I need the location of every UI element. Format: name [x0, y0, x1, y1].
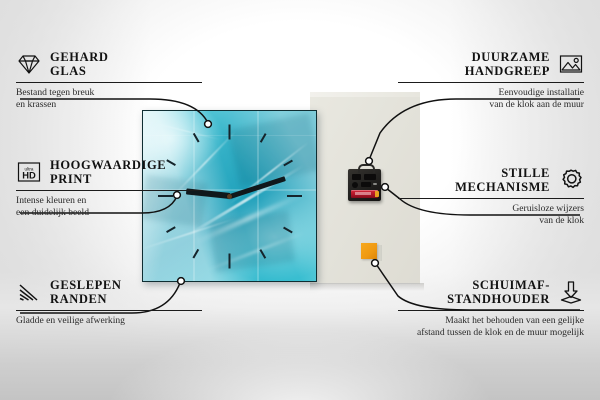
gear-icon — [558, 167, 584, 193]
feature-title-line1: DUURZAME — [465, 50, 550, 64]
foam-spacer-pad — [361, 243, 377, 259]
feature-title-line1: GESLEPEN — [50, 278, 122, 292]
feature-gehard-glas[interactable]: GEHARD GLAS Bestand tegen breuk en krass… — [16, 50, 202, 112]
feature-title-line1: GEHARD — [50, 50, 108, 64]
feature-header: DUURZAME HANDGREEP — [398, 50, 584, 79]
feature-subtitle: Geruisloze wijzers van de klok — [398, 203, 584, 228]
feature-header: GEHARD GLAS — [16, 50, 202, 79]
feature-stille-mechanisme[interactable]: STILLE MECHANISME Geruisloze wijzers van… — [398, 166, 584, 228]
feature-subtitle-line1: Gladde en veilige afwerking — [16, 315, 202, 328]
feature-divider — [398, 198, 584, 199]
mechanism-detail — [352, 182, 358, 188]
feature-title: GEHARD GLAS — [50, 50, 108, 79]
feature-title-line2: RANDEN — [50, 292, 122, 306]
feature-divider — [398, 310, 584, 311]
feature-title-line2: PRINT — [50, 172, 166, 186]
feature-header: ultra HD HOOGWAARDIGE PRINT — [16, 158, 202, 187]
mechanism-detail — [361, 182, 371, 187]
feature-subtitle-line1: Maakt het behouden van een gelijke — [398, 315, 584, 328]
mechanism-detail — [373, 183, 377, 185]
feature-subtitle-line2: en krassen — [16, 99, 202, 112]
feature-subtitle-line1: Bestand tegen breuk — [16, 87, 202, 100]
clock-tick — [287, 195, 302, 197]
feature-title: HOOGWAARDIGE PRINT — [50, 158, 166, 187]
feature-title: SCHUIMAF- STANDHOUDER — [447, 278, 550, 307]
feature-subtitle: Intense kleuren en een duidelijk beeld — [16, 195, 202, 220]
feature-hoogwaardige-print[interactable]: ultra HD HOOGWAARDIGE PRINT Intense kleu… — [16, 158, 202, 220]
feature-divider — [16, 190, 202, 191]
clock-tick — [229, 124, 231, 139]
clock-mechanism — [348, 169, 381, 201]
feature-subtitle: Gladde en veilige afwerking — [16, 315, 202, 328]
feature-schuimaf-standhouder[interactable]: SCHUIMAF- STANDHOUDER Maakt het behouden… — [398, 278, 584, 340]
ultra-hd-icon-main-text: HD — [22, 170, 36, 181]
feature-divider — [398, 82, 584, 83]
feature-title-line2: GLAS — [50, 64, 108, 78]
feature-subtitle-line2: afstand tussen de klok en de muur mogeli… — [398, 327, 584, 340]
feature-subtitle-line2: van de klok — [398, 215, 584, 228]
foam-spacer-side — [377, 245, 382, 261]
mechanism-detail — [364, 174, 376, 180]
feature-title: GESLEPEN RANDEN — [50, 278, 122, 307]
mechanism-hanger — [358, 164, 375, 173]
feature-subtitle-line1: Intense kleuren en — [16, 195, 202, 208]
feature-header: STILLE MECHANISME — [398, 166, 584, 195]
clock-center-pin — [227, 194, 232, 199]
diamond-icon — [16, 51, 42, 77]
mechanism-detail — [352, 174, 361, 180]
feature-duurzame-handgreep[interactable]: DUURZAME HANDGREEP Eenvoudige installati… — [398, 50, 584, 112]
feature-divider — [16, 82, 202, 83]
feature-subtitle: Maakt het behouden van een gelijke afsta… — [398, 315, 584, 340]
ultra-hd-icon: ultra HD — [16, 159, 42, 185]
feature-divider — [16, 310, 202, 311]
battery-label-strip — [355, 192, 371, 195]
feature-title: STILLE MECHANISME — [455, 166, 550, 195]
feature-title-line2: HANDGREEP — [465, 64, 550, 78]
feature-title-line2: MECHANISME — [455, 180, 550, 194]
feature-title-line2: STANDHOUDER — [447, 292, 550, 306]
feature-subtitle-line2: van de klok aan de muur — [398, 99, 584, 112]
feature-subtitle-line2: een duidelijk beeld — [16, 207, 202, 220]
press-down-icon — [558, 279, 584, 305]
feature-header: SCHUIMAF- STANDHOUDER — [398, 278, 584, 307]
feature-subtitle: Eenvoudige installatie van de klok aan d… — [398, 87, 584, 112]
feature-header: GESLEPEN RANDEN — [16, 278, 202, 307]
battery-positive-tip — [375, 191, 379, 197]
feature-title-line1: HOOGWAARDIGE — [50, 158, 166, 172]
feature-geslepen-randen[interactable]: GESLEPEN RANDEN Gladde en veilige afwerk… — [16, 278, 202, 327]
feature-title-line1: STILLE — [455, 166, 550, 180]
clock-tick — [229, 253, 231, 268]
bevelled-edges-icon — [16, 279, 42, 305]
feature-title: DUURZAME HANDGREEP — [465, 50, 550, 79]
picture-frame-icon — [558, 51, 584, 77]
feature-title-line1: SCHUIMAF- — [447, 278, 550, 292]
feature-subtitle: Bestand tegen breuk en krassen — [16, 87, 202, 112]
feature-subtitle-line1: Eenvoudige installatie — [398, 87, 584, 100]
infographic-canvas: GEHARD GLAS Bestand tegen breuk en krass… — [0, 0, 600, 400]
mechanism-battery — [351, 190, 378, 198]
feature-subtitle-line1: Geruisloze wijzers — [398, 203, 584, 216]
